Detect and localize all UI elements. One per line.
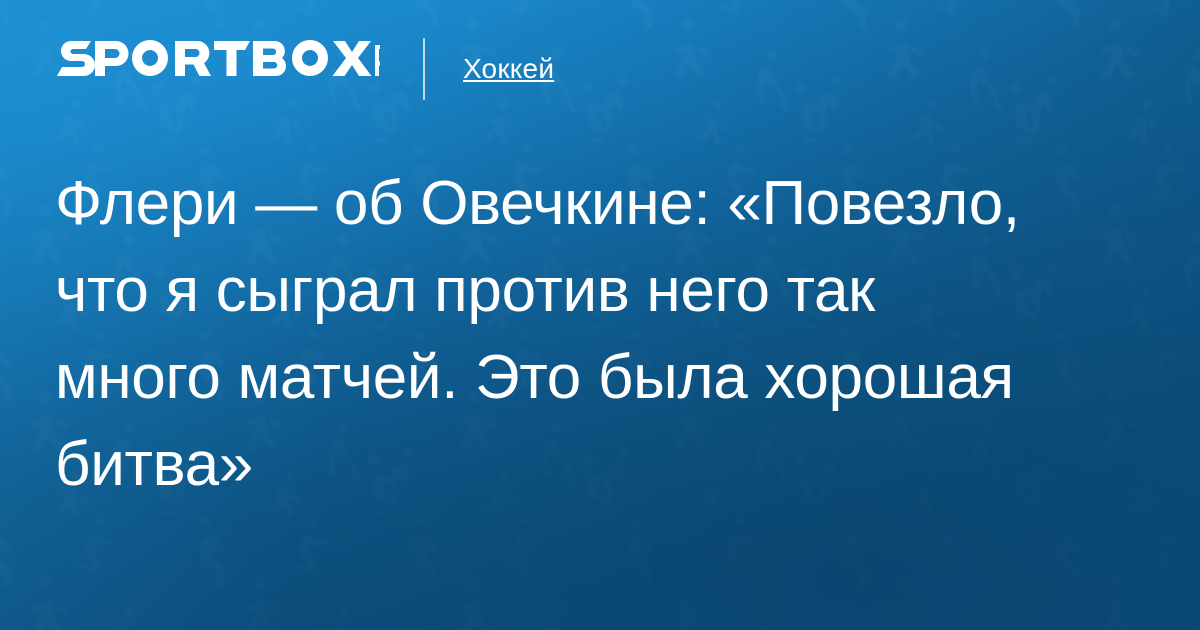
header: SPORTBOX.RU Хоккей <box>55 38 554 100</box>
header-divider <box>423 38 425 100</box>
sportbox-logo[interactable]: SPORTBOX.RU <box>55 38 380 100</box>
section-link-hockey[interactable]: Хоккей <box>463 38 554 100</box>
headline-line: много матчей. Это была хорошая <box>55 334 1145 421</box>
sportbox-logo-wordmark <box>55 38 380 78</box>
headline-line: что я сыграл против него так <box>55 247 1145 334</box>
share-card: SPORTBOX.RU Хоккей Флери — об Овечкине: … <box>0 0 1200 630</box>
headline-line: битва» <box>55 421 1145 508</box>
headline-line: Флери — об Овечкине: «Повезло, <box>55 160 1145 247</box>
headline: Флери — об Овечкине: «Повезло, что я сыг… <box>55 160 1145 508</box>
